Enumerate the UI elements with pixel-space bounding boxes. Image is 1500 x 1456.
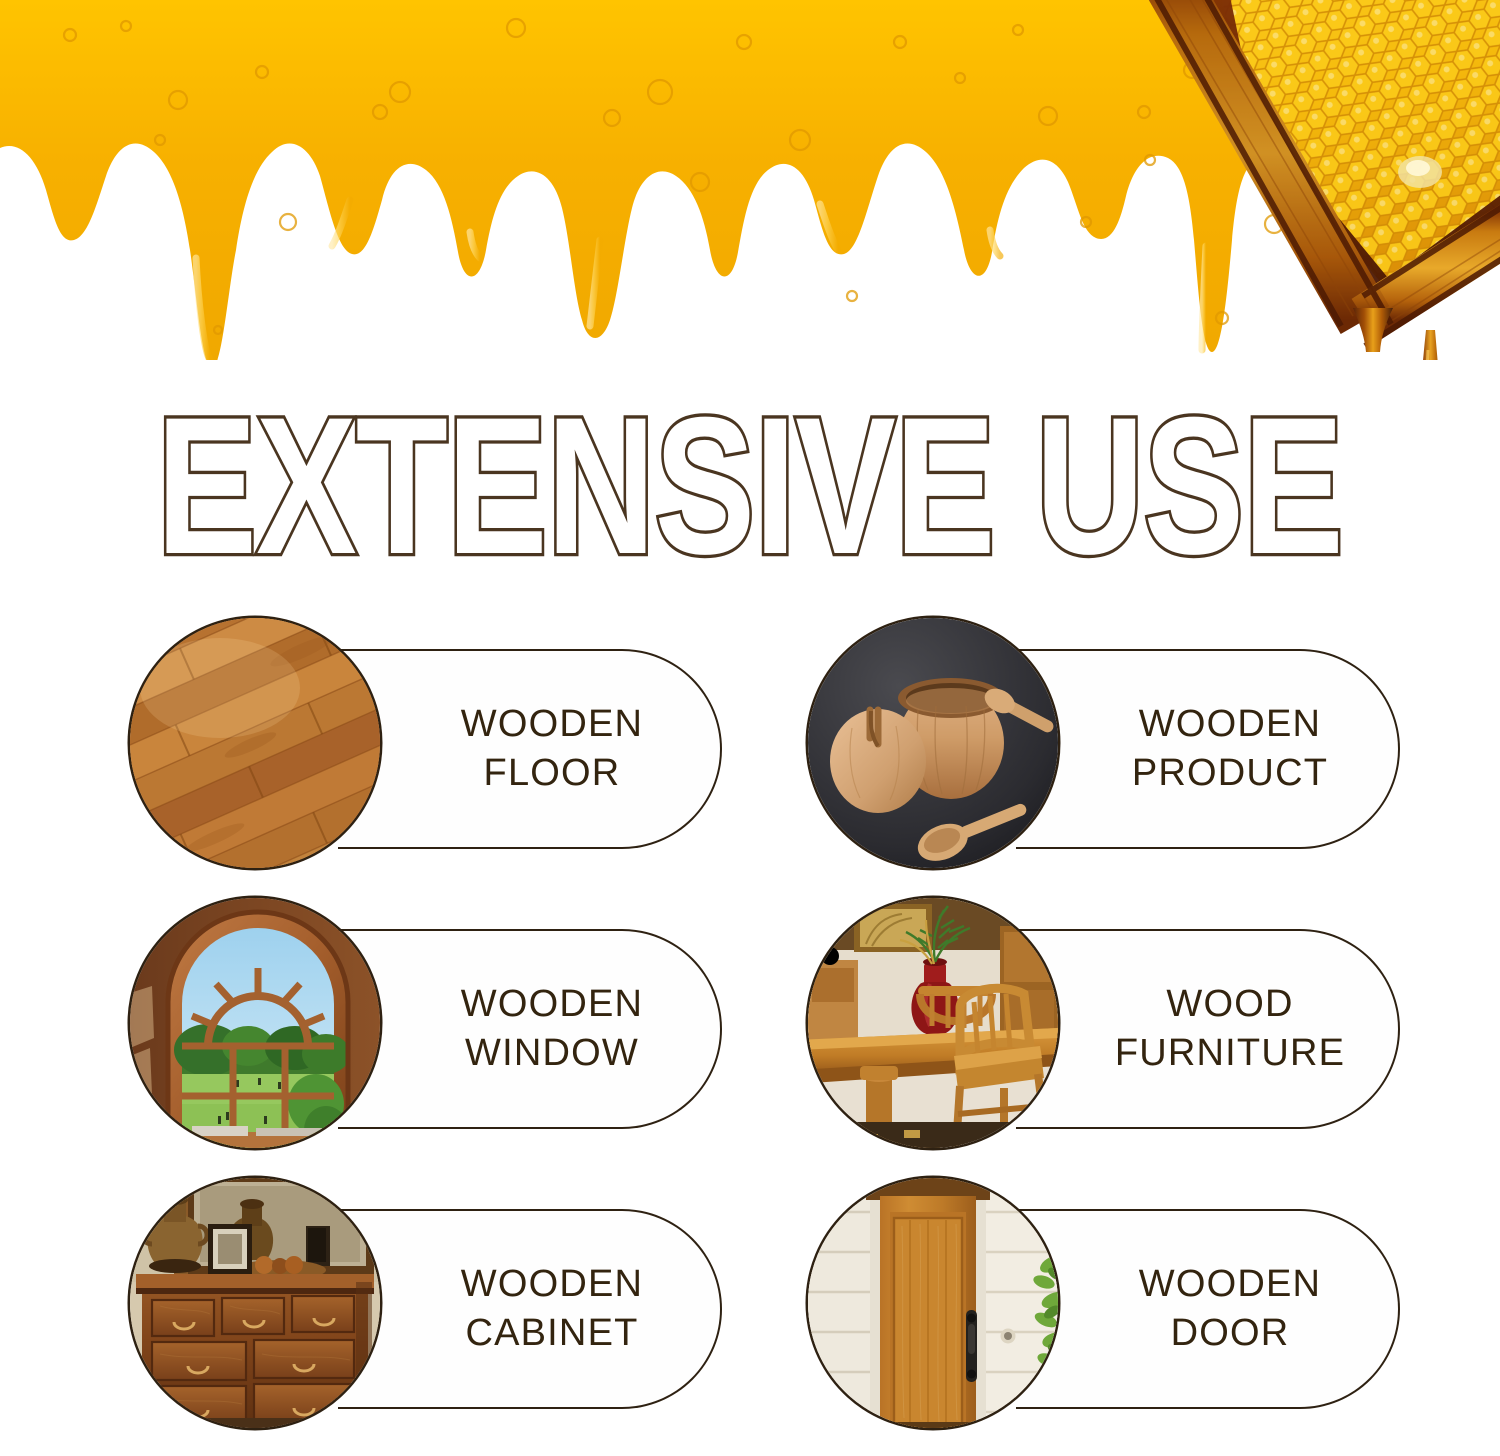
wood-furniture-photo [808, 898, 1058, 1148]
feature-row: WOODEN WINDOW [0, 898, 1500, 1160]
honey-header-banner [0, 0, 1500, 360]
feature-pill-wooden-cabinet[interactable]: WOODEN CABINET [338, 1209, 722, 1409]
feature-item-wooden-door[interactable]: WOODEN DOOR [808, 1178, 1408, 1440]
feature-item-wooden-floor[interactable]: WOODEN FLOOR [130, 618, 730, 880]
page-title: EXTENSIVE USE [157, 388, 1343, 587]
feature-label-wooden-cabinet: WOODEN CABINET [415, 1260, 643, 1357]
feature-label-wooden-floor: WOODEN FLOOR [415, 700, 643, 797]
wooden-door-photo [808, 1178, 1058, 1428]
feature-item-wooden-cabinet[interactable]: WOODEN CABINET [130, 1178, 730, 1440]
wooden-floor-photo [130, 618, 380, 868]
feature-pill-wooden-window[interactable]: WOODEN WINDOW [338, 929, 722, 1129]
feature-row: WOODEN CABINET [0, 1178, 1500, 1440]
feature-label-wooden-door: WOODEN DOOR [1093, 1260, 1321, 1357]
feature-row: WOODEN FLOOR [0, 618, 1500, 880]
feature-item-wooden-window[interactable]: WOODEN WINDOW [130, 898, 730, 1160]
feature-pill-wooden-product[interactable]: WOODEN PRODUCT [1016, 649, 1400, 849]
wooden-cabinet-photo [130, 1178, 380, 1428]
wooden-product-photo [808, 618, 1058, 868]
page-title-block: EXTENSIVE USE [0, 388, 1500, 539]
feature-label-wood-furniture: WOOD FURNITURE [1069, 980, 1345, 1077]
feature-item-wood-furniture[interactable]: WOOD FURNITURE [808, 898, 1408, 1160]
feature-grid: WOODEN FLOOR [0, 618, 1500, 1438]
feature-pill-wooden-door[interactable]: WOODEN DOOR [1016, 1209, 1400, 1409]
feature-pill-wood-furniture[interactable]: WOOD FURNITURE [1016, 929, 1400, 1129]
honeycomb-frame [1035, 0, 1500, 360]
honey-drip-strand [1393, 330, 1473, 360]
feature-pill-wooden-floor[interactable]: WOODEN FLOOR [338, 649, 722, 849]
feature-label-wooden-product: WOODEN PRODUCT [1086, 700, 1328, 797]
feature-label-wooden-window: WOODEN WINDOW [415, 980, 643, 1077]
feature-item-wooden-product[interactable]: WOODEN PRODUCT [808, 618, 1408, 880]
wooden-window-photo [130, 898, 380, 1148]
